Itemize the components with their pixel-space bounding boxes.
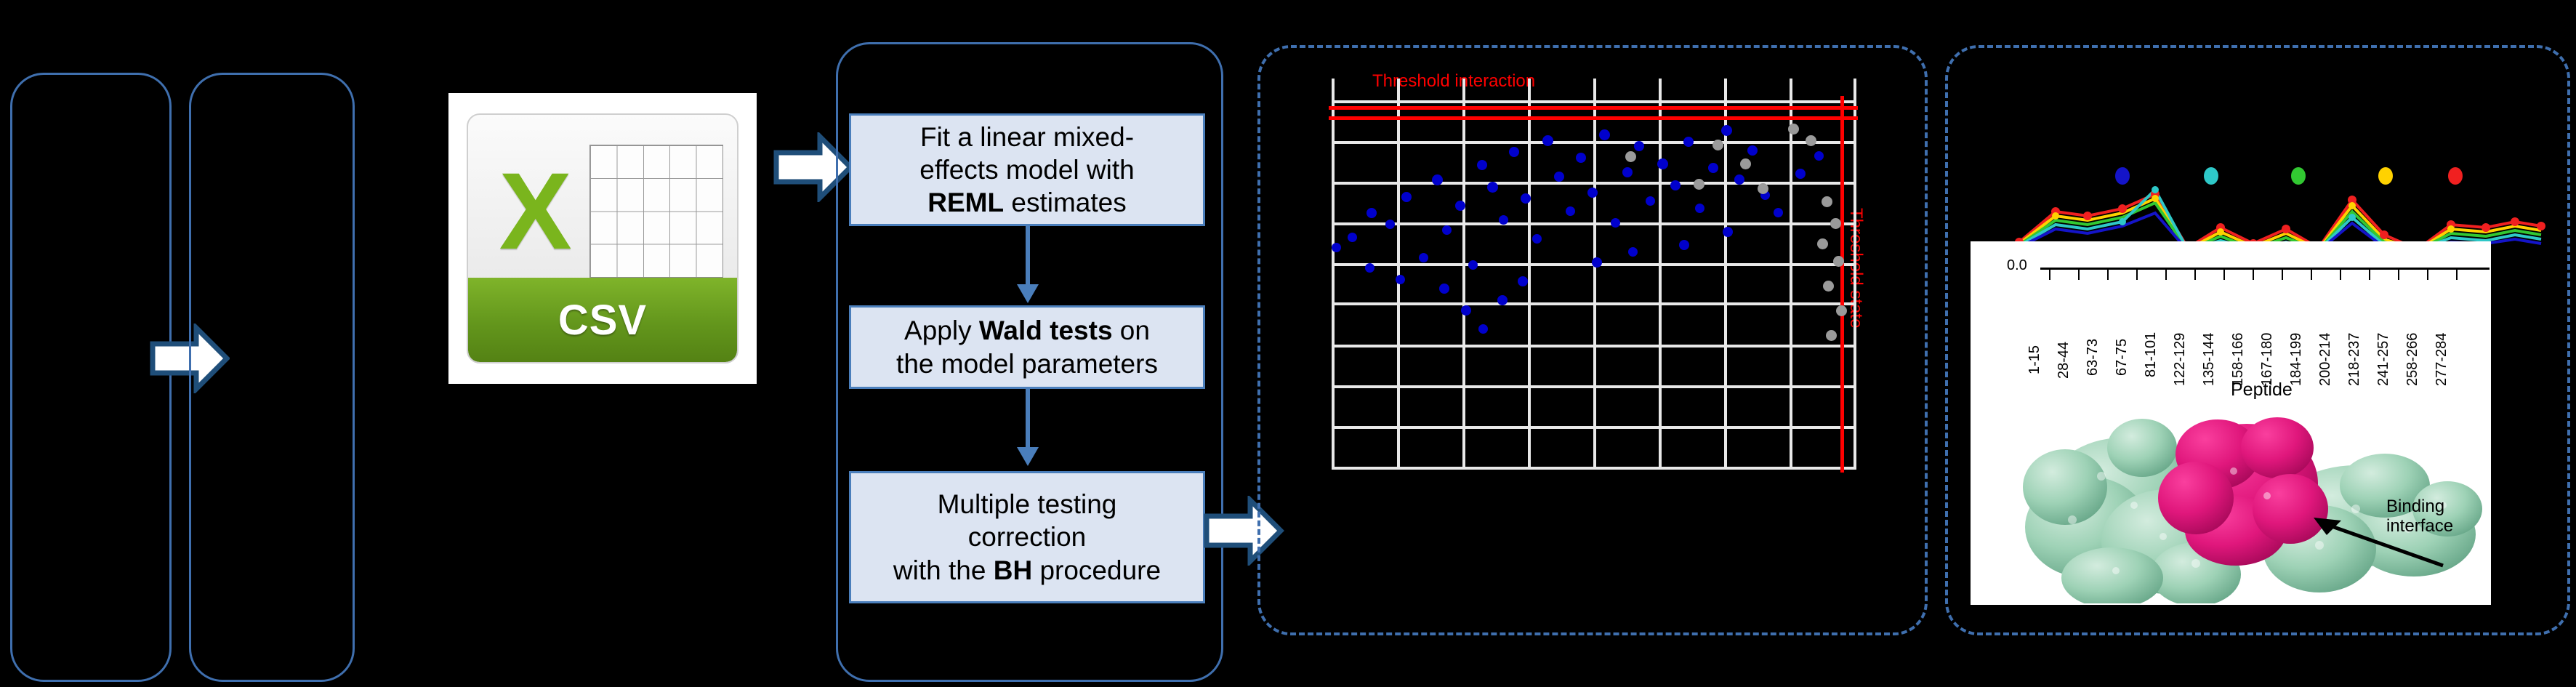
data-point-significant [1509,147,1519,157]
data-point-significant [1478,324,1488,334]
data-point-significant [1521,193,1531,204]
data-point-significant [1611,218,1620,228]
peptide-tick-label: 200-214 [2317,333,2334,386]
csv-icon-body: X CSV [467,113,738,363]
binding-interface-line-2: interface [2386,517,2453,537]
data-point-significant [1576,153,1586,163]
fit-model-box-text: Fit a linear mixed- effects model with R… [919,121,1134,219]
data-point-significant [1683,137,1694,147]
x-axis-tick [2282,270,2283,280]
bh-line-2: correction [893,521,1161,553]
data-point-nonsignificant [1830,218,1841,229]
connector-fit-to-wald [1013,226,1043,306]
data-point-nonsignificant [1758,183,1768,194]
peptide-tick-label: 158-166 [2230,333,2247,386]
data-point-significant [1628,247,1638,257]
data-point-significant [1461,305,1471,316]
x-axis-tick [2136,270,2138,280]
wald-tests-box: Apply Wald tests on the model parameters [849,305,1205,389]
data-point-nonsignificant [1826,330,1837,341]
legend-dot-series-4 [2378,167,2393,185]
data-point-significant [1432,174,1443,185]
x-axis-tick [2456,270,2458,280]
data-point-significant [1554,172,1564,182]
data-point-nonsignificant [1833,256,1844,267]
data-point-nonsignificant [1625,151,1636,162]
data-point-significant [1599,129,1610,140]
threshold-interaction-line-2 [1329,116,1858,120]
data-point-significant [1497,295,1508,305]
peptide-tick-label: 135-144 [2201,333,2218,386]
data-point-significant [1401,192,1412,202]
data-point-significant [1455,201,1465,211]
data-point-significant [1396,275,1405,284]
peptide-tick-label: 67-75 [2114,339,2130,376]
wald-line-1: Apply Wald tests on [896,314,1158,347]
x-axis-tick [2107,270,2109,280]
data-point-significant [1747,145,1758,156]
bh-line-3: with the BH procedure [893,554,1161,587]
peptide-tick-label: 184-199 [2288,333,2305,386]
results-figure-card: 0.0 1-15 28-44 63-73 67-75 81-101 122-12… [1971,241,2491,605]
data-point-significant [1468,260,1478,270]
data-point-significant [1695,204,1704,213]
peptide-tick-label: 167-180 [2259,333,2276,386]
x-axis-tick [2223,270,2225,280]
x-axis-tick [2398,270,2399,280]
data-point-significant [1332,243,1341,252]
x-axis-tick [2253,270,2254,280]
data-point-significant [1587,188,1598,198]
data-point-significant [1365,263,1374,273]
peptide-line-plot-top [2006,178,2545,251]
data-point-significant [1795,169,1806,179]
data-point-significant [1723,227,1733,237]
x-axis-tick [2427,270,2428,280]
peptide-lines-svg [2006,178,2545,251]
data-point-significant [1518,276,1528,286]
x-axis-tick [2078,270,2080,280]
csv-file-icon: X CSV [448,93,757,384]
data-point-significant [1532,234,1542,244]
x-axis-tick [2165,270,2167,280]
legend-dot-series-5 [2448,167,2463,185]
wald-line-2: the model parameters [896,347,1158,380]
data-point-significant [1348,233,1357,242]
x-axis-label: Peptide [2231,379,2293,401]
volcano-scatter: Threshold interaction Threshold state [1287,65,1901,614]
fit-model-line-2: effects model with [919,153,1134,186]
data-point-nonsignificant [1788,124,1799,134]
data-point-nonsignificant [1712,140,1723,150]
y-axis-tick-label: 0.0 [2007,257,2027,274]
data-point-significant [1442,225,1452,235]
data-point-significant [1566,206,1575,216]
excel-x-icon: X [479,125,592,298]
data-point-significant [1622,167,1633,177]
peptide-tick-label: 63-73 [2085,339,2101,376]
peptide-tick-label: 28-44 [2056,342,2072,379]
data-point-significant [1487,182,1498,193]
legend-dot-series-2 [2204,167,2218,185]
data-point-significant [1670,180,1681,190]
connector-wald-to-bh [1013,389,1043,469]
csv-label: CSV [468,278,736,362]
data-point-significant [1734,174,1744,185]
x-axis-tick [2340,270,2341,280]
data-point-significant [1708,163,1718,173]
data-point-significant [1814,151,1824,161]
data-point-significant [1439,284,1449,294]
panel-input-stage [10,73,172,682]
data-point-significant [1477,160,1487,170]
data-point-significant [1646,196,1655,206]
peptide-tick-label: 122-129 [2172,333,2189,386]
peptide-tick-label: 81-101 [2143,332,2160,377]
data-point-significant [1634,141,1644,151]
peptide-tick-label: 1-15 [2026,345,2043,374]
wald-tests-box-text: Apply Wald tests on the model parameters [896,314,1158,379]
threshold-state-line [1840,96,1844,473]
data-point-nonsignificant [1806,135,1816,146]
data-point-significant [1419,253,1428,262]
data-point-nonsignificant [1836,305,1847,316]
pipeline-figure: X CSV Fit a linear mixed- effects model … [0,0,2576,687]
scatter-grid [1332,100,1856,305]
data-point-significant [1774,208,1783,217]
peptide-tick-label: 258-266 [2404,333,2421,386]
fit-model-line-3: REML estimates [919,186,1134,219]
data-point-significant [1679,240,1689,250]
peptide-tick-label: 277-284 [2434,333,2450,386]
fit-model-line-1: Fit a linear mixed- [919,121,1134,153]
panel-csv-stage [189,73,355,682]
spreadsheet-grid-icon [589,145,724,278]
data-point-nonsignificant [1694,179,1704,190]
data-point-significant [1385,220,1395,229]
x-axis-tick [2194,270,2196,280]
x-axis-tick [2369,270,2370,280]
data-point-significant [1721,125,1732,136]
multiple-testing-box-text: Multiple testing correction with the BH … [893,488,1161,586]
peptide-tick-label: 241-257 [2375,333,2392,386]
peptide-tick-label: 218-237 [2346,333,2363,386]
legend-dot-series-3 [2291,167,2306,185]
data-point-significant [1657,158,1668,169]
binding-interface-annotation: Binding interface [2386,497,2453,537]
legend-dot-series-1 [2115,167,2130,185]
data-point-nonsignificant [1817,238,1828,249]
bh-line-1: Multiple testing [893,488,1161,521]
multiple-testing-box: Multiple testing correction with the BH … [849,471,1205,603]
fit-model-box: Fit a linear mixed- effects model with R… [849,113,1205,226]
data-point-significant [1592,257,1602,268]
data-point-nonsignificant [1740,158,1751,169]
x-axis-tick [2049,270,2050,280]
data-point-significant [1542,135,1553,146]
data-point-significant [1499,215,1508,225]
scatter-grid-lower [1332,305,1856,473]
data-point-nonsignificant [1823,281,1834,292]
x-axis-tick [2311,270,2312,280]
binding-interface-line-1: Binding [2386,497,2453,517]
data-point-nonsignificant [1822,196,1832,207]
data-point-significant [1367,208,1377,218]
threshold-interaction-line [1329,106,1858,110]
